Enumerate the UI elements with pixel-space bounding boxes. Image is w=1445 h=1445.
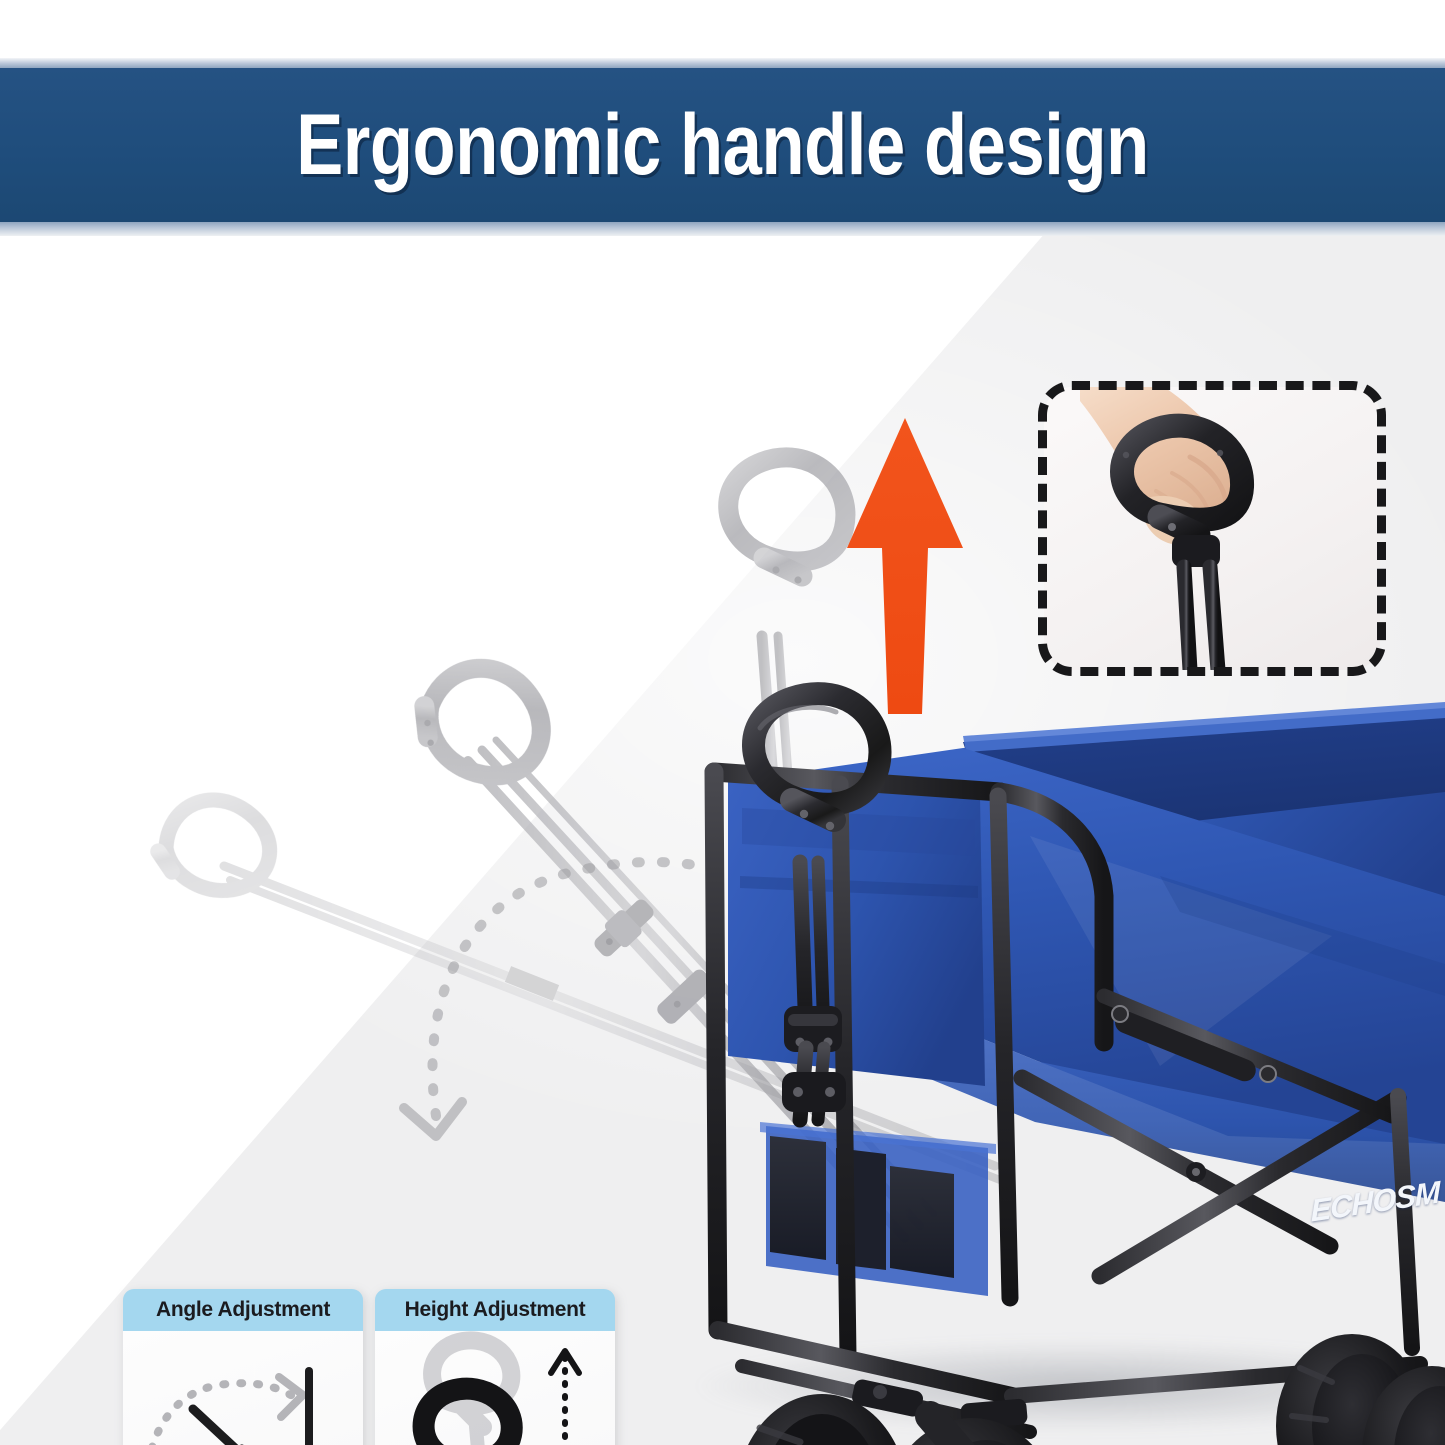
card-angle-title: Angle Adjustment <box>156 1298 330 1322</box>
height-up-arrow <box>847 418 963 714</box>
angle-diagram-icon <box>123 1331 363 1445</box>
page-title: Ergonomic handle design <box>130 68 1315 222</box>
card-height-body <box>375 1331 615 1445</box>
card-height-title: Height Adjustment <box>405 1298 586 1322</box>
header-banner: Ergonomic handle design <box>0 0 1445 240</box>
hand-grip-inset <box>1038 381 1386 676</box>
card-height-header: Height Adjustment <box>375 1289 615 1331</box>
side-mesh-pocket <box>760 1122 996 1296</box>
infographic-canvas: Ergonomic handle design <box>0 0 1445 1445</box>
card-height-adjustment[interactable]: Height Adjustment <box>375 1289 615 1445</box>
product-photo-stage: ECHOSM <box>0 236 1445 1445</box>
feature-cards: Angle Adjustment <box>123 1289 628 1445</box>
card-angle-body <box>123 1331 363 1445</box>
card-angle-adjustment[interactable]: Angle Adjustment <box>123 1289 363 1445</box>
card-angle-header: Angle Adjustment <box>123 1289 363 1331</box>
handle-height-icon <box>375 1331 615 1445</box>
banner-top-edge <box>0 58 1445 68</box>
banner-bottom-edge <box>0 222 1445 236</box>
inset-dashed-border <box>1038 381 1386 676</box>
